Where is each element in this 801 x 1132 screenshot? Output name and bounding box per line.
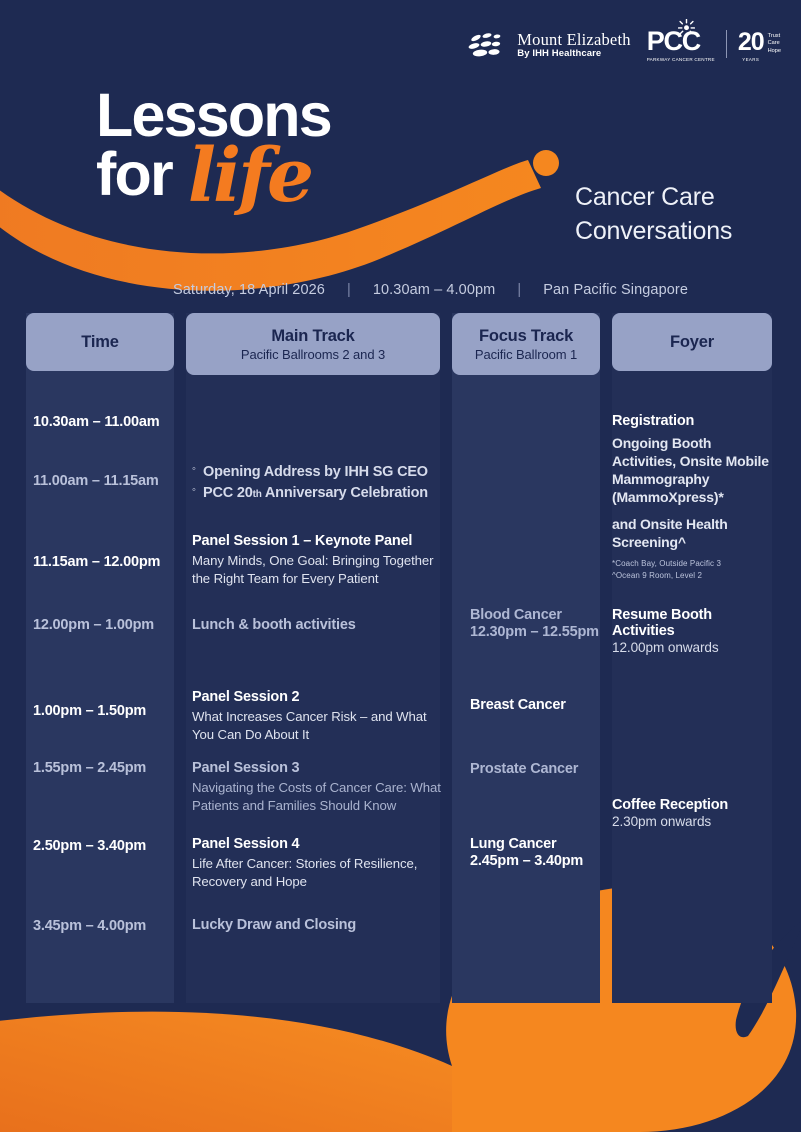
pcc-tagline: PARKWAY CANCER CENTRE	[647, 57, 715, 62]
meta-separator-1: |	[347, 282, 351, 298]
anniversary-years-label: YEARS	[738, 57, 764, 62]
column-header-focus-track: Focus Track Pacific Ballroom 1	[452, 313, 600, 375]
subtitle-line-2: Conversations	[575, 215, 732, 249]
mount-elizabeth-petals-icon	[467, 32, 509, 58]
table-header-row: Time Main Track Pacific Ballrooms 2 and …	[0, 313, 801, 375]
mount-elizabeth-logo: Mount Elizabeth By IHH Healthcare	[467, 31, 630, 59]
column-header-main-track-title: Main Track	[271, 327, 354, 346]
focus-session-name: Blood Cancer	[470, 607, 600, 623]
anniversary-values: TrustCareHope	[768, 30, 781, 55]
session-description: Many Minds, One Goal: Bringing Together …	[192, 552, 442, 588]
cell-focus-track: Blood Cancer 12.30pm – 12.55pm	[470, 607, 600, 640]
foyer-footnotes: *Coach Bay, Outside Pacific 3 ^Ocean 9 R…	[612, 558, 777, 581]
cell-foyer: Resume Booth Activities 12.00pm onwards	[612, 607, 777, 655]
foyer-resume-subtitle: 12.00pm onwards	[612, 640, 777, 655]
focus-session-name: Lung Cancer	[470, 836, 600, 852]
focus-session-time: 2.45pm – 3.40pm	[470, 853, 600, 869]
cell-focus-track: Lung Cancer 2.45pm – 3.40pm	[470, 836, 600, 869]
title-line-2-prefix: for	[96, 144, 172, 205]
bullet-text-post: Anniversary Celebration	[262, 485, 428, 501]
session-description: Navigating the Costs of Cancer Care: Wha…	[192, 779, 442, 815]
list-item: PCC 20th Anniversary Celebration	[192, 483, 442, 504]
logo-divider	[726, 30, 727, 58]
bullet-text-pre: PCC 20	[203, 485, 253, 501]
sun-burst-icon	[678, 19, 695, 36]
session-title: Panel Session 2	[192, 688, 442, 707]
foyer-registration-body: Ongoing Booth Activities, Onsite Mobile …	[612, 435, 777, 507]
row-time-label: 11.15am – 12.00pm	[33, 554, 160, 570]
mount-elizabeth-name: Mount Elizabeth	[517, 31, 630, 48]
foyer-coffee-title: Coffee Reception	[612, 797, 777, 813]
pcc-logo: PCC PARKWAY CANCER CENTRE 20 YEARS Trust…	[647, 28, 781, 62]
focus-session-name: Prostate Cancer	[470, 761, 600, 777]
cell-time: 12.00pm – 1.00pm	[33, 616, 178, 634]
row-time-label: 3.45pm – 4.00pm	[33, 918, 146, 934]
anniversary-number: 20	[738, 30, 764, 55]
column-header-main-track-sub: Pacific Ballrooms 2 and 3	[241, 347, 385, 362]
event-programme-poster: Mount Elizabeth By IHH Healthcare	[0, 0, 801, 1132]
opening-bullet-list: Opening Address by IHH SG CEO PCC 20th A…	[192, 462, 442, 504]
foyer-registration-title: Registration	[612, 413, 777, 429]
cell-foyer: Coffee Reception 2.30pm onwards	[612, 797, 777, 829]
cell-time: 11.00am – 11.15am	[33, 472, 178, 490]
cell-time: 10.30am – 11.00am	[33, 413, 178, 431]
bullet-text-superscript: th	[253, 489, 262, 500]
cell-time: 1.55pm – 2.45pm	[33, 759, 178, 777]
event-details: Saturday, 18 April 2026 | 10.30am – 4.00…	[173, 282, 688, 298]
foyer-coffee-subtitle: 2.30pm onwards	[612, 814, 777, 829]
mount-elizabeth-subline: By IHH Healthcare	[517, 49, 630, 59]
cell-main-track: Panel Session 4 Life After Cancer: Stori…	[192, 835, 442, 890]
cell-main-track: Lucky Draw and Closing	[192, 916, 442, 935]
anniversary-badge: 20 YEARS TrustCareHope	[738, 30, 781, 62]
session-title: Lunch & booth activities	[192, 616, 442, 635]
cell-time: 1.00pm – 1.50pm	[33, 702, 178, 720]
cell-main-track: Opening Address by IHH SG CEO PCC 20th A…	[192, 462, 442, 504]
column-header-focus-track-title: Focus Track	[479, 327, 573, 346]
cell-main-track: Panel Session 2 What Increases Cancer Ri…	[192, 688, 442, 743]
column-band-focus-track	[452, 313, 600, 1003]
cell-foyer-registration: Registration Ongoing Booth Activities, O…	[612, 413, 777, 582]
list-item: Opening Address by IHH SG CEO	[192, 462, 442, 483]
row-time-label: 1.55pm – 2.45pm	[33, 760, 146, 776]
title-script-life: life	[188, 147, 311, 206]
column-header-focus-track-sub: Pacific Ballroom 1	[475, 347, 577, 362]
meta-separator-2: |	[517, 282, 521, 298]
row-time-label: 2.50pm – 3.40pm	[33, 838, 146, 854]
event-date: Saturday, 18 April 2026	[173, 282, 325, 298]
cell-main-track: Panel Session 3 Navigating the Costs of …	[192, 759, 442, 814]
event-subtitle: Cancer Care Conversations	[575, 181, 732, 248]
column-header-time: Time	[26, 313, 174, 371]
column-header-time-title: Time	[81, 333, 118, 352]
subtitle-line-1: Cancer Care	[575, 181, 732, 215]
cell-time: 2.50pm – 3.40pm	[33, 837, 178, 855]
focus-session-time: 12.30pm – 12.55pm	[470, 624, 600, 640]
session-title: Lucky Draw and Closing	[192, 916, 442, 935]
event-venue: Pan Pacific Singapore	[543, 282, 688, 298]
session-title: Panel Session 4	[192, 835, 442, 854]
cell-focus-track: Prostate Cancer	[470, 761, 600, 777]
column-band-main-track	[186, 313, 440, 1003]
row-time-label: 12.00pm – 1.00pm	[33, 617, 154, 633]
foyer-footnote-1: *Coach Bay, Outside Pacific 3	[612, 558, 777, 570]
event-time: 10.30am – 4.00pm	[373, 282, 496, 298]
bottom-ribbon-base	[0, 1012, 452, 1132]
column-header-foyer-title: Foyer	[670, 333, 714, 352]
row-time-label: 1.00pm – 1.50pm	[33, 703, 146, 719]
session-description: Life After Cancer: Stories of Resilience…	[192, 855, 442, 891]
cell-main-track: Panel Session 1 – Keynote Panel Many Min…	[192, 532, 442, 587]
column-header-foyer: Foyer	[612, 313, 772, 371]
session-title: Panel Session 1 – Keynote Panel	[192, 532, 442, 551]
cell-main-track: Lunch & booth activities	[192, 616, 442, 635]
swoosh-dot	[533, 150, 559, 176]
row-time-label: 10.30am – 11.00am	[33, 414, 159, 430]
logo-bar: Mount Elizabeth By IHH Healthcare	[467, 28, 781, 62]
cell-focus-track: Breast Cancer	[470, 697, 600, 713]
session-description: What Increases Cancer Risk – and What Yo…	[192, 708, 442, 744]
foyer-resume-title: Resume Booth Activities	[612, 607, 777, 639]
cell-time: 3.45pm – 4.00pm	[33, 917, 178, 935]
session-title: Panel Session 3	[192, 759, 442, 778]
event-title: Lessons for life	[96, 86, 331, 205]
foyer-registration-body-2: and Onsite Health Screening^	[612, 516, 777, 552]
foyer-footnote-2: ^Ocean 9 Room, Level 2	[612, 570, 777, 582]
row-time-label: 11.00am – 11.15am	[33, 473, 159, 489]
focus-session-name: Breast Cancer	[470, 697, 600, 713]
column-header-main-track: Main Track Pacific Ballrooms 2 and 3	[186, 313, 440, 375]
cell-time: 11.15am – 12.00pm	[33, 553, 178, 571]
